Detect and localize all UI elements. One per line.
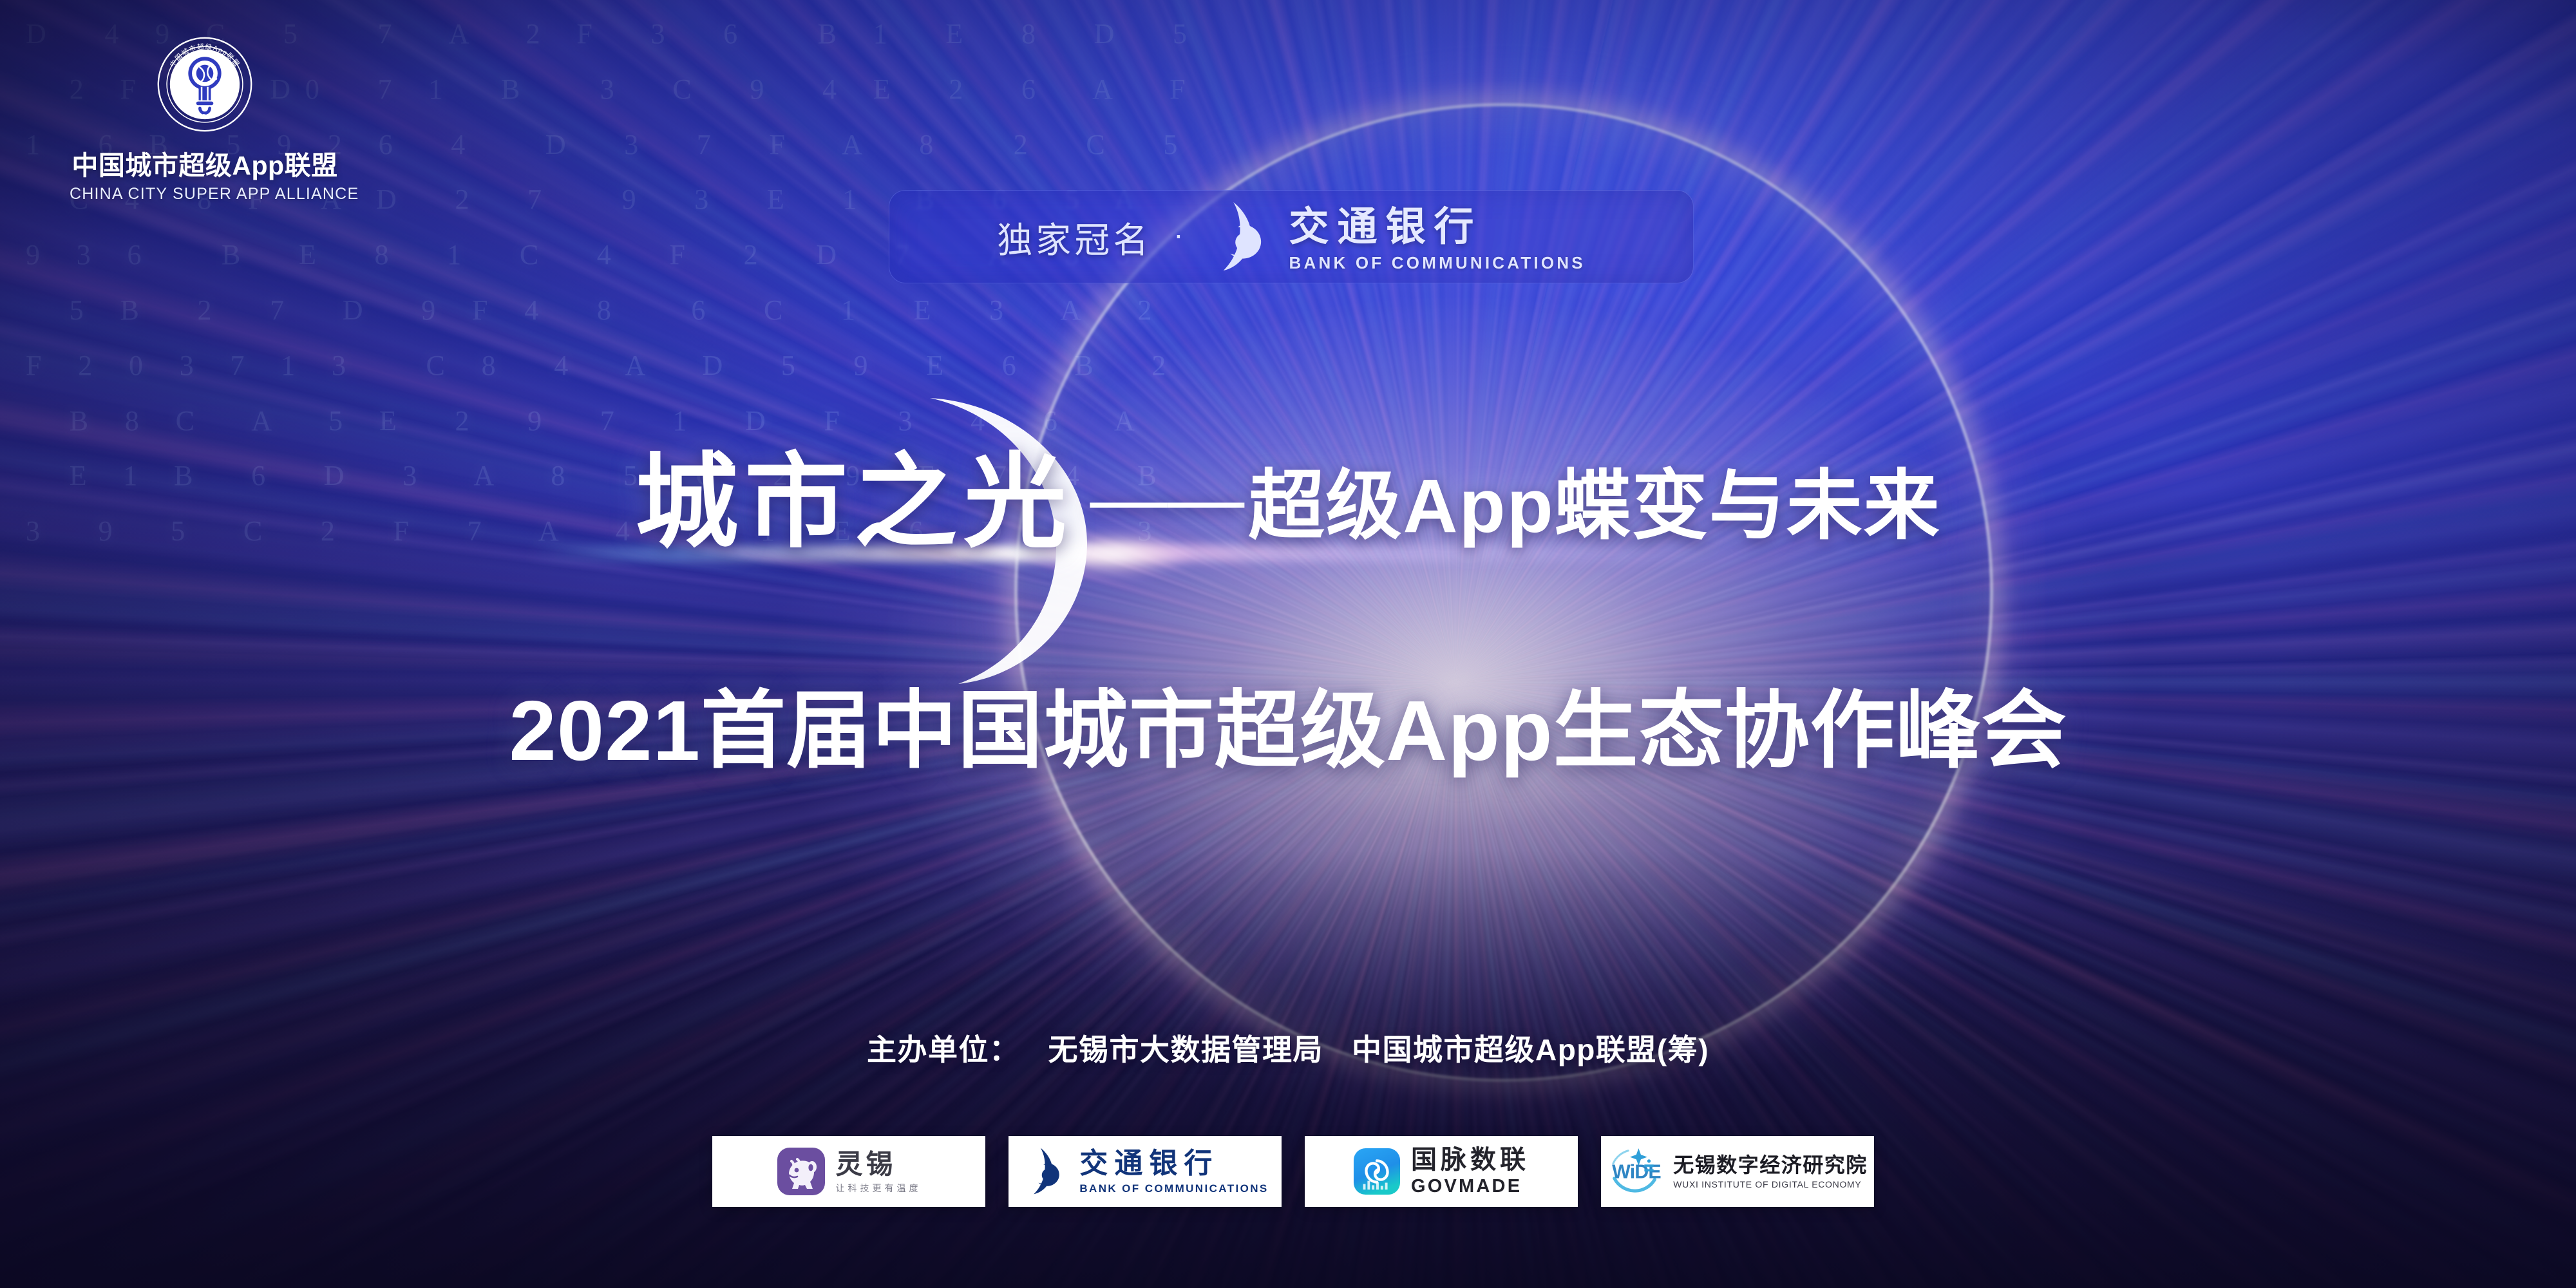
partner-bocom-name-cn: 交通银行 — [1079, 1150, 1268, 1178]
partner-govmade-name-en: GOVMADE — [1411, 1177, 1529, 1196]
partner-logo-govmade[interactable]: 国脉数联 GOVMADE — [1305, 1136, 1578, 1207]
bocom-mark-icon — [1206, 201, 1275, 273]
headline-dash: —— — [1090, 460, 1244, 537]
organiser-item-0: 无锡市大数据管理局 — [1048, 1033, 1323, 1066]
alliance-name-cn: 中国城市超级App联盟 — [70, 144, 340, 182]
rhino-app-icon — [777, 1147, 826, 1196]
partner-logo-bocom[interactable]: 交通银行 BANK OF COMMUNICATIONS — [1009, 1136, 1282, 1207]
bocom-mark-icon — [1021, 1147, 1069, 1196]
alliance-name-en: CHINA CITY SUPER APP ALLIANCE — [70, 185, 340, 204]
organiser-item-1: 中国城市超级App联盟(筹) — [1352, 1033, 1709, 1066]
partner-govmade-name-cn: 国脉数联 — [1411, 1147, 1529, 1173]
partner-logo-strip: 灵锡 让科技更有温度 交通银行 BANK OF COMMUNICATIONS — [712, 1136, 1874, 1207]
headline-row: 城市之光 —— 超级App蝶变与未来 — [0, 451, 2576, 554]
organiser-line: 主办单位：无锡市大数据管理局中国城市超级App联盟(筹) — [0, 1027, 2576, 1069]
title-sponsor-bar: 独家冠名 · 交通银行 BANK OF COMMUNICATIONS — [889, 190, 1694, 283]
partner-wide-name-en: WUXI INSTITUTE OF DIGITAL ECONOMY — [1673, 1180, 1868, 1189]
partner-logo-lingxi[interactable]: 灵锡 让科技更有温度 — [712, 1136, 985, 1207]
sponsor-label: 独家冠名 — [997, 211, 1151, 263]
poster-canvas: D 4 9 C 5 7 A 2 F 3 6 B 1 E 8 D 5 2 F A … — [0, 0, 2576, 1288]
sponsor-brand-cn: 交通银行 — [1289, 207, 1482, 247]
wide-mark-icon: WiDE — [1607, 1146, 1663, 1197]
partner-lingxi-tagline: 让科技更有温度 — [836, 1184, 922, 1193]
partner-bocom-name-en: BANK OF COMMUNICATIONS — [1079, 1183, 1268, 1194]
summit-title: 2021首届中国城市超级App生态协作峰会 — [0, 662, 2576, 785]
sponsor-brand-en: BANK OF COMMUNICATIONS — [1289, 253, 1586, 273]
partner-wide-name-cn: 无锡数字经济研究院 — [1673, 1155, 1868, 1175]
alliance-logo-block: 中国城市超级App联盟 CHINA CITY SUPER APP ALLIANC… — [70, 35, 340, 204]
sponsor-separator: · — [1173, 220, 1183, 249]
partner-logo-wide[interactable]: WiDE 无锡数字经济研究院 WUXI INSTITUTE OF DIGITAL… — [1601, 1136, 1874, 1207]
sponsor-brand-lockup: 交通银行 BANK OF COMMUNICATIONS — [1206, 201, 1586, 273]
headline-main: 城市之光 — [635, 451, 1073, 554]
swirl-app-icon — [1353, 1148, 1401, 1195]
partner-lingxi-name: 灵锡 — [836, 1151, 922, 1178]
svg-text:WiDE: WiDE — [1612, 1161, 1661, 1183]
organiser-label: 主办单位： — [867, 1033, 1020, 1066]
lightbulb-seal-icon: 中国城市超级App联盟 CHINA CITY SUPER APP ALLIANC… — [156, 35, 254, 133]
headline-subtitle: 超级App蝶变与未来 — [1248, 468, 1940, 544]
